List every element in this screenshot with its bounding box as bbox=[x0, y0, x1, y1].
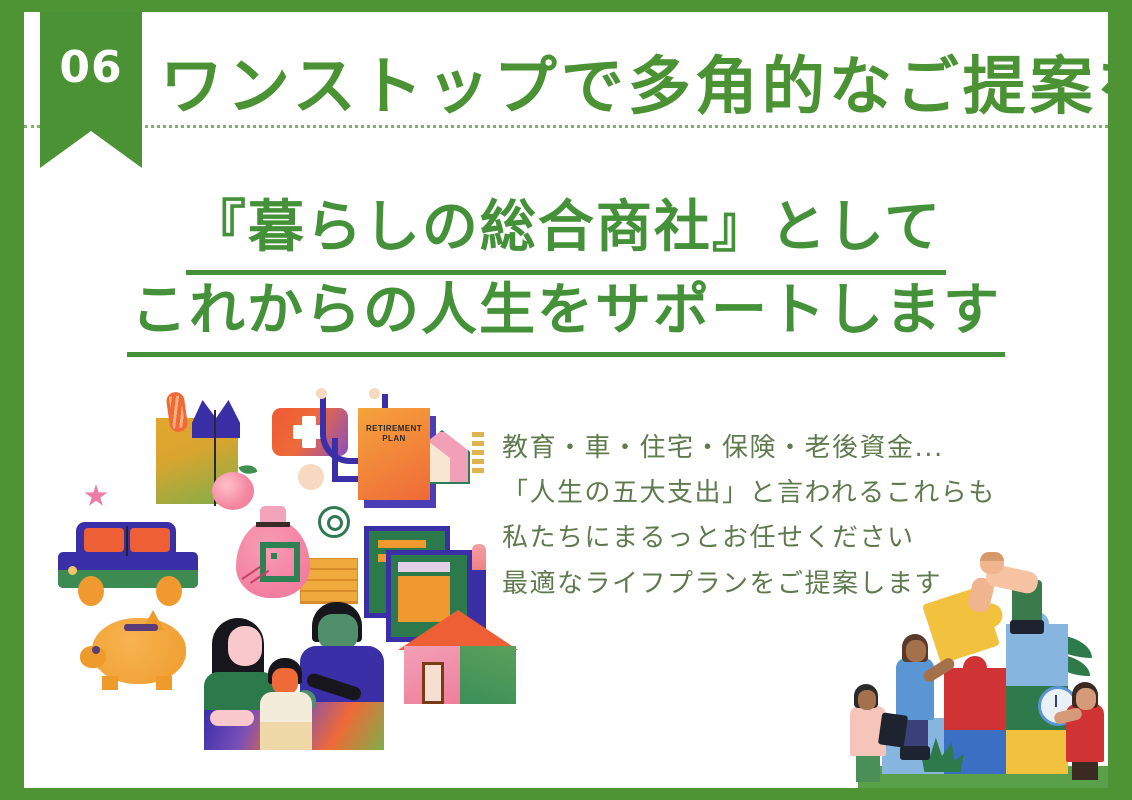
pen-cap-icon bbox=[472, 544, 486, 570]
apple-icon bbox=[212, 472, 254, 510]
teamwork-puzzle-illustration bbox=[858, 538, 1108, 788]
page-title: 『暮らしの総合商社』として これからの人生をサポートします bbox=[24, 192, 1108, 357]
piggy-bank-eye bbox=[92, 646, 100, 654]
person-clipboard-legs bbox=[856, 752, 880, 782]
person-red-face bbox=[1076, 688, 1096, 710]
stethoscope-earpiece-right-icon bbox=[369, 388, 380, 399]
family-mother-arm bbox=[210, 710, 254, 726]
puzzle-piece-red bbox=[944, 668, 1006, 730]
person-top-boots bbox=[1010, 620, 1044, 634]
person-blue-body bbox=[896, 658, 934, 720]
page-title-line-2-text: これからの人生をサポートします bbox=[127, 275, 1005, 358]
person-blue-face bbox=[906, 640, 926, 662]
section-headline: ワンストップで多角的なご提案を bbox=[160, 36, 1108, 126]
person-clipboard-face bbox=[858, 690, 876, 710]
car-wheel-front bbox=[78, 576, 104, 606]
family-father-face bbox=[318, 614, 358, 650]
car-window-front bbox=[84, 528, 124, 552]
family-child-lower bbox=[260, 722, 312, 750]
house-wall-right bbox=[460, 646, 516, 704]
piggy-bank-leg-rear bbox=[156, 676, 172, 690]
stethoscope-bell-icon bbox=[298, 464, 324, 490]
life-expenses-illustration: RETIREMENT PLAN bbox=[64, 380, 484, 720]
money-bag-tie bbox=[256, 522, 290, 527]
car-window-divider bbox=[126, 526, 128, 556]
retirement-plan-label: RETIREMENT PLAN bbox=[366, 424, 422, 444]
car-window-rear bbox=[130, 528, 170, 552]
spiral-decoration-icon bbox=[318, 506, 350, 538]
family-child-face bbox=[272, 668, 298, 694]
notebook-front-page bbox=[398, 576, 450, 622]
family-mother-face bbox=[228, 626, 262, 666]
stethoscope-earpiece-left-icon bbox=[316, 388, 327, 399]
notebook-front-label bbox=[398, 562, 450, 572]
section-number-label: 06 bbox=[40, 42, 142, 93]
money-symbol-icon bbox=[260, 542, 300, 582]
person-blue-boots bbox=[900, 746, 930, 760]
page-title-line-2: これからの人生をサポートします bbox=[24, 275, 1108, 358]
clipboard-icon bbox=[878, 712, 908, 747]
retirement-plan-book-icon bbox=[358, 408, 430, 500]
slide-root: 06 ワンストップで多角的なご提案を 『暮らしの総合商社』として これからの人生… bbox=[0, 0, 1132, 800]
car-headlight bbox=[68, 566, 77, 575]
piggy-bank-coin-slot bbox=[124, 624, 158, 631]
person-top-hair bbox=[980, 552, 1004, 561]
page-title-line-1: 『暮らしの総合商社』として bbox=[24, 192, 1108, 275]
house-door-icon bbox=[422, 662, 444, 704]
page-title-line-1-text: 『暮らしの総合商社』として bbox=[186, 192, 946, 275]
star-icon bbox=[84, 484, 108, 508]
piggy-bank-leg-front bbox=[102, 676, 118, 690]
vegetable-icon bbox=[192, 400, 240, 438]
body-copy-line-1: 教育・車・住宅・保険・老後資金... bbox=[502, 426, 1102, 471]
car-wheel-rear bbox=[156, 576, 182, 606]
squiggle-decoration-icon bbox=[472, 432, 484, 474]
body-copy-line-2: 「人生の五大支出」と言われるこれらも bbox=[502, 471, 1102, 516]
family-father-lower bbox=[300, 702, 384, 750]
notebook-back-line-1 bbox=[378, 540, 426, 548]
slide-canvas: 06 ワンストップで多角的なご提案を 『暮らしの総合商社』として これからの人生… bbox=[24, 12, 1108, 788]
section-number-ribbon: 06 bbox=[40, 12, 142, 168]
